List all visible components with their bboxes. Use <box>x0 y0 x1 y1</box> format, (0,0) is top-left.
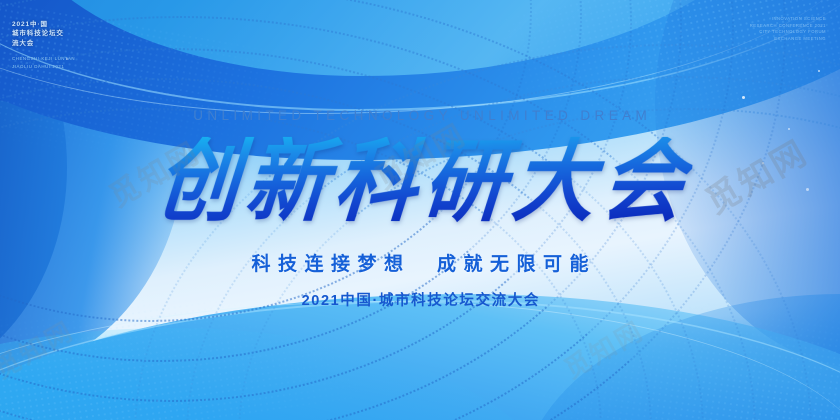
poster-banner: 2021中·国 城市科技论坛交 流大会 CHENGSHI KEJI LUNTAN… <box>0 0 840 420</box>
event-name-line: 2021中国·城市科技论坛交流大会 <box>300 289 540 310</box>
english-tagline: UNLIMITED TECHNOLOGY UNLIMITED DREAM <box>189 108 651 123</box>
corner-note-line-4: EXCHANGE MEETING <box>750 36 826 43</box>
badge-pinyin-1: CHENGSHI KEJI LUNTAN <box>12 55 75 62</box>
corner-note: INNOVATION SCIENCE RESEARCH CONFERENCE 2… <box>750 16 826 43</box>
corner-note-line-1: INNOVATION SCIENCE <box>750 16 826 23</box>
main-title: 创新科研大会 <box>146 137 695 227</box>
badge-line-1: 2021中·国 <box>12 20 75 29</box>
badge-pinyin-2: JIAOLIU DAHUI 2021 <box>12 63 75 70</box>
corner-note-line-2: RESEARCH CONFERENCE 2021 <box>750 23 826 30</box>
badge-line-2: 城市科技论坛交 <box>12 29 75 38</box>
corner-badge: 2021中·国 城市科技论坛交 流大会 CHENGSHI KEJI LUNTAN… <box>12 20 75 70</box>
poster-content: UNLIMITED TECHNOLOGY UNLIMITED DREAM 创新科… <box>0 0 840 420</box>
badge-line-3: 流大会 <box>12 39 75 48</box>
subtitle-slogan: 科技连接梦想 成就无限可能 <box>244 249 596 276</box>
corner-note-line-3: CITY TECHNOLOGY FORUM <box>750 29 826 36</box>
